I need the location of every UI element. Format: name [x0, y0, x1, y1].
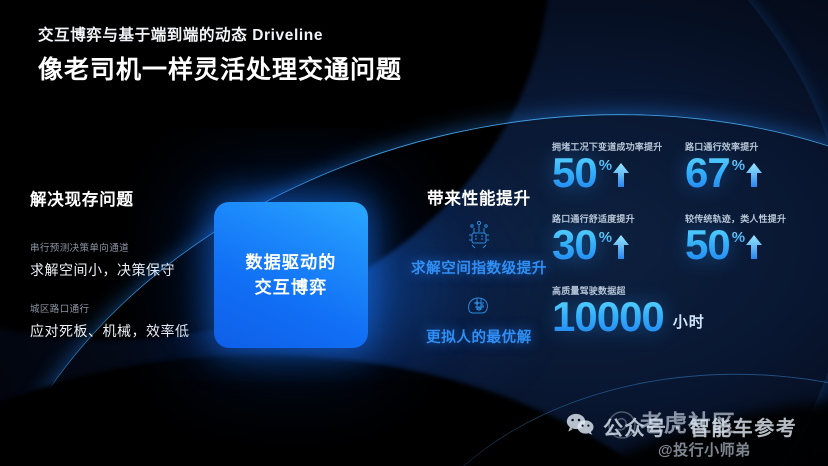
header-title: 像老司机一样灵活处理交通问题 — [38, 55, 402, 86]
benefit-item: 更拟人的最优解 — [398, 282, 560, 347]
problem-text: 应对死板、机械，效率低 — [30, 321, 226, 341]
brain-head-icon — [398, 282, 560, 326]
stat-card: 路口通行舒适度提升 30 % — [552, 212, 685, 267]
tiger-watermark: 老虎社区 @投行小师弟 — [640, 404, 751, 460]
stat-unit: % — [599, 229, 612, 246]
benefit-label: 更拟人的最优解 — [398, 326, 560, 347]
stat-unit: % — [599, 157, 612, 174]
header-subtitle: 交互博弈与基于端到端的动态 Driveline — [38, 26, 402, 46]
problem-text: 求解空间小，决策保守 — [30, 260, 226, 280]
stats-row: 高质量驾驶数据超 10000 小时 — [552, 284, 818, 339]
tiger-watermark-title: 老虎社区 — [640, 404, 751, 438]
slide-header: 交互博弈与基于端到端的动态 Driveline 像老司机一样灵活处理交通问题 — [38, 26, 402, 86]
stat-card: 较传统轨迹，类人性提升 50 % — [685, 212, 818, 267]
stat-value: 30 — [552, 223, 597, 267]
stats-panel: 拥堵工况下变道成功率提升 50 % 路口通行效率提升 — [552, 140, 818, 339]
up-arrow-icon — [745, 234, 763, 265]
benefits-column: 带来性能提升 求解空间指数级提升 — [398, 185, 560, 347]
core-concept-text: 数据驱动的 交互博弈 — [246, 250, 337, 301]
benefit-item: 求解空间指数级提升 — [398, 213, 560, 278]
problem-item: 城区路口通行 应对死板、机械，效率低 — [30, 301, 226, 341]
stat-value: 50 — [685, 223, 730, 267]
problem-item: 串行预测决策单向通道 求解空间小，决策保守 — [30, 240, 226, 280]
up-arrow-icon — [612, 234, 630, 265]
tiger-watermark-handle: @投行小师弟 — [658, 439, 751, 460]
problems-section-title: 解决现存问题 — [30, 186, 226, 210]
problems-column: 解决现存问题 串行预测决策单向通道 求解空间小，决策保守 城区路口通行 应对死板… — [30, 186, 226, 341]
benefits-section-title: 带来性能提升 — [398, 185, 560, 209]
tiger-community-icon — [605, 408, 639, 447]
stats-row: 拥堵工况下变道成功率提升 50 % 路口通行效率提升 — [552, 140, 818, 195]
stat-value: 50 — [552, 151, 597, 195]
core-concept-line-1: 数据驱动的 — [246, 250, 337, 276]
wechat-icon — [566, 413, 594, 441]
problem-tag: 串行预测决策单向通道 — [30, 240, 226, 254]
stat-card: 高质量驾驶数据超 10000 小时 — [552, 284, 818, 339]
stat-value: 10000 — [552, 295, 664, 339]
benefit-label: 求解空间指数级提升 — [398, 257, 560, 278]
stats-row: 路口通行舒适度提升 30 % 较传统轨迹，类人性提升 50 % — [552, 212, 818, 267]
stat-card: 路口通行效率提升 67 % — [685, 140, 818, 195]
problem-tag: 城区路口通行 — [30, 301, 226, 315]
chip-circuit-icon — [398, 213, 560, 257]
stat-value: 67 — [685, 151, 730, 195]
stat-unit: % — [732, 157, 745, 174]
stat-card: 拥堵工况下变道成功率提升 50 % — [552, 140, 685, 195]
stat-unit: % — [732, 229, 745, 246]
core-concept-card: 数据驱动的 交互博弈 — [214, 202, 368, 348]
up-arrow-icon — [745, 162, 763, 193]
core-concept-line-2: 交互博弈 — [246, 275, 337, 301]
up-arrow-icon — [612, 162, 630, 193]
stat-unit: 小时 — [673, 311, 705, 332]
slide-canvas: 交互博弈与基于端到端的动态 Driveline 像老司机一样灵活处理交通问题 解… — [0, 0, 828, 466]
